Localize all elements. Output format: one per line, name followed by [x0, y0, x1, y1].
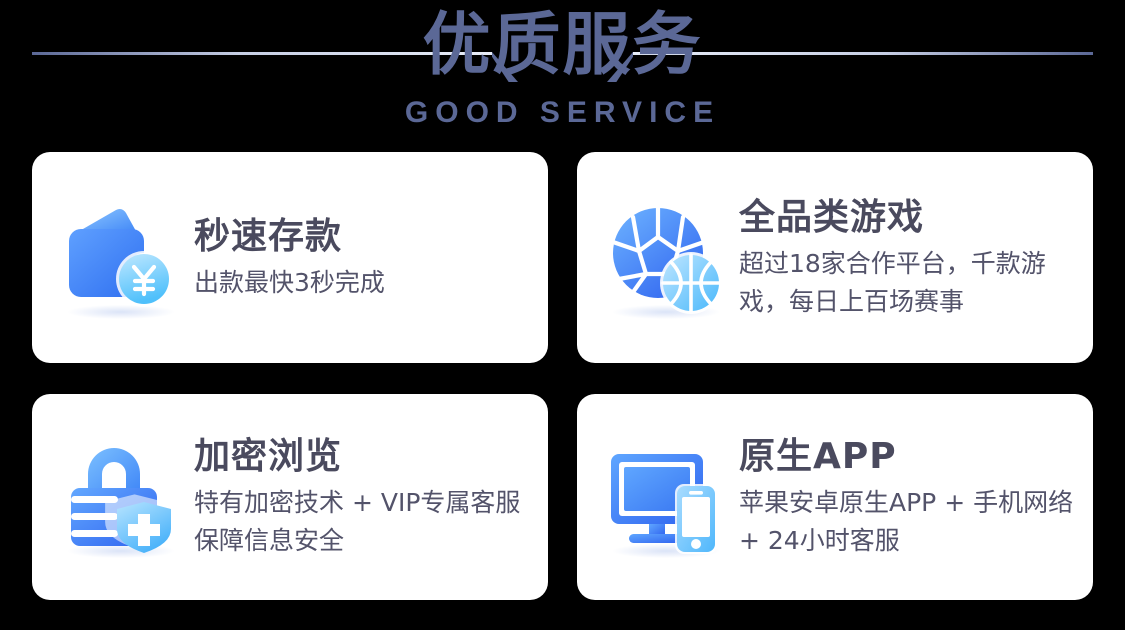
card-description: 出款最快3秒完成 [194, 264, 534, 302]
card-description: 超过18家合作平台，千款游戏，每日上百场赛事 [739, 245, 1079, 321]
card-text-block: 加密浏览 特有加密技术 + VIP专属客服保障信息安全 [184, 434, 534, 560]
feature-card-grid: 秒速存款 出款最快3秒完成 [32, 152, 1093, 600]
lock-shield-icon-glyph [58, 434, 184, 560]
card-description: 特有加密技术 + VIP专属客服保障信息安全 [194, 484, 534, 560]
page-subtitle: GOOD SERVICE [0, 96, 1125, 130]
feature-card-games[interactable]: 全品类游戏 超过18家合作平台，千款游戏，每日上百场赛事 [577, 152, 1093, 363]
card-description: 苹果安卓原生APP + 手机网络 + 24小时客服 [739, 484, 1079, 560]
wallet-yen-icon [58, 195, 184, 321]
card-title: 原生APP [739, 434, 1079, 480]
card-text-block: 秒速存款 出款最快3秒完成 [184, 214, 534, 302]
feature-card-deposit[interactable]: 秒速存款 出款最快3秒完成 [32, 152, 548, 363]
page-title: 优质服务 [0, 4, 1125, 88]
soccer-basketball-icon [603, 195, 729, 321]
header: 优质服务 GOOD SERVICE [0, 0, 1125, 148]
card-text-block: 原生APP 苹果安卓原生APP + 手机网络 + 24小时客服 [729, 434, 1079, 560]
card-title: 秒速存款 [194, 214, 534, 260]
soccer-basketball-icon-glyph [603, 195, 729, 321]
feature-card-native-app[interactable]: 原生APP 苹果安卓原生APP + 手机网络 + 24小时客服 [577, 394, 1093, 600]
promo-banner: 优质服务 GOOD SERVICE [0, 0, 1125, 630]
monitor-phone-icon [603, 434, 729, 560]
card-title: 全品类游戏 [739, 195, 1079, 241]
feature-card-encryption[interactable]: 加密浏览 特有加密技术 + VIP专属客服保障信息安全 [32, 394, 548, 600]
lock-shield-icon [58, 434, 184, 560]
card-text-block: 全品类游戏 超过18家合作平台，千款游戏，每日上百场赛事 [729, 195, 1079, 321]
card-title: 加密浏览 [194, 434, 534, 480]
monitor-phone-icon-glyph [603, 434, 729, 560]
wallet-yen-icon-glyph [58, 195, 184, 321]
